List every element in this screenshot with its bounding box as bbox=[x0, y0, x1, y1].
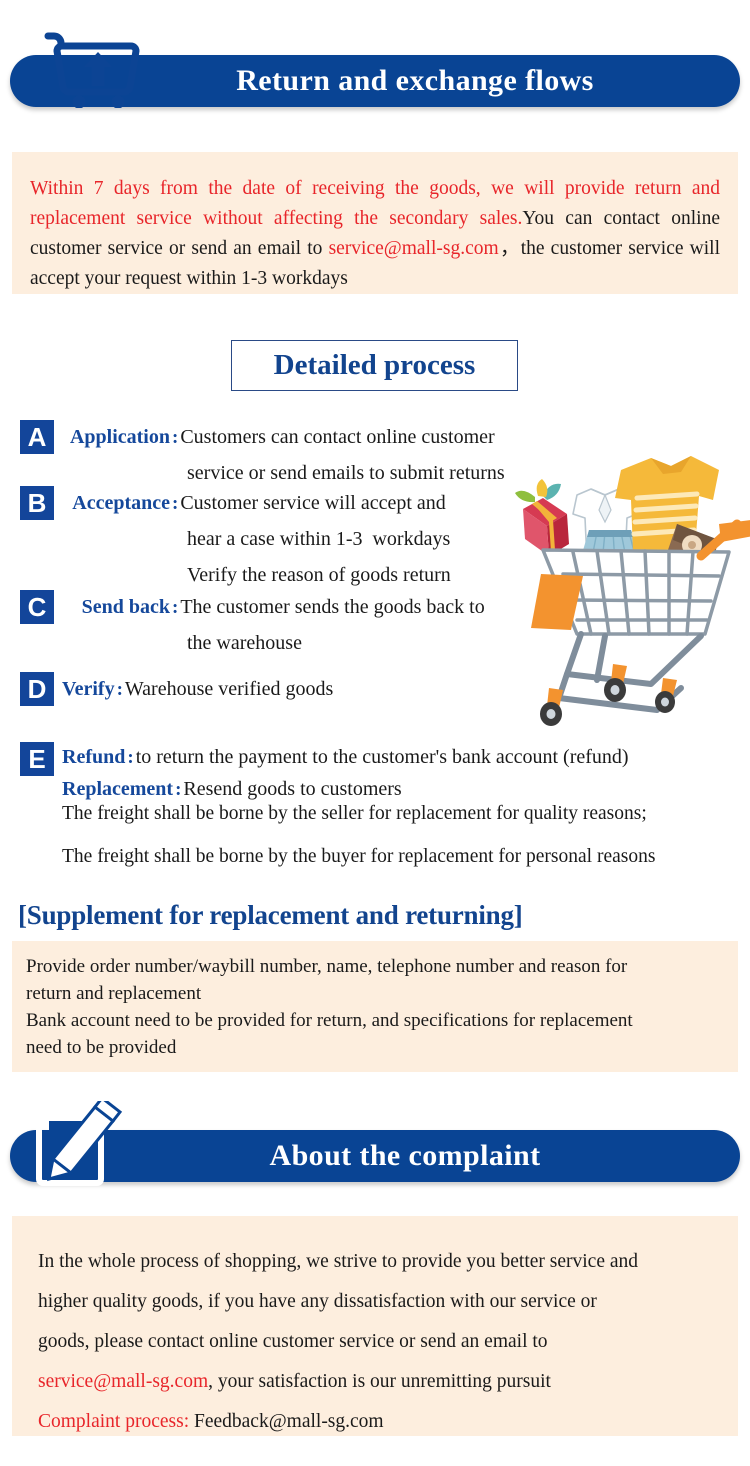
step-c-line-1: Send back:The customer sends the goods b… bbox=[62, 590, 750, 626]
process-step-a: A Application:Customers can contact onli… bbox=[0, 420, 750, 486]
step-d-text-1: Warehouse verified goods bbox=[125, 678, 333, 700]
step-b-text-1: Customer service will accept and bbox=[180, 492, 445, 514]
step-a-text-1: Customers can contact online customer bbox=[180, 426, 494, 448]
supplement-line-4: need to be provided bbox=[26, 1034, 724, 1061]
step-b-line-3: Verify the reason of goods return bbox=[62, 558, 750, 594]
complaint-line-4: service@mall-sg.com, your satisfaction i… bbox=[38, 1362, 712, 1402]
step-d-colon: : bbox=[115, 679, 125, 700]
step-a-line-1: Application:Customers can contact online… bbox=[62, 420, 750, 456]
policy-intro-box: Within 7 days from the date of receiving… bbox=[12, 152, 738, 294]
process-step-e: E Refund:to return the payment to the cu… bbox=[0, 742, 750, 792]
step-e-text-2: Resend goods to customers bbox=[183, 778, 401, 800]
complaint-feedback-email[interactable]: Feedback@mall-sg.com bbox=[194, 1411, 384, 1432]
step-c-label: Send back bbox=[62, 590, 170, 624]
step-a-colon: : bbox=[170, 427, 180, 448]
step-b-label: Acceptance bbox=[62, 486, 170, 520]
service-email-link[interactable]: service@mall-sg.com bbox=[329, 238, 499, 259]
step-b-line-1: Acceptance:Customer service will accept … bbox=[62, 486, 750, 522]
step-badge-e: E bbox=[20, 742, 54, 776]
supplement-heading: [Supplement for replacement and returnin… bbox=[18, 900, 523, 931]
complaint-text-box: In the whole process of shopping, we str… bbox=[12, 1216, 738, 1436]
notepad-pencil-icon bbox=[33, 1101, 125, 1189]
step-badge-b: B bbox=[20, 486, 54, 520]
complaint-service-email[interactable]: service@mall-sg.com bbox=[38, 1371, 208, 1392]
process-steps-list: A Application:Customers can contact onli… bbox=[0, 420, 750, 878]
step-c-text-1: The customer sends the goods back to bbox=[180, 596, 484, 618]
step-e-colon-2: : bbox=[173, 779, 183, 800]
supplement-box: Provide order number/waybill number, nam… bbox=[12, 941, 738, 1072]
step-e-label-replacement: Replacement bbox=[62, 778, 173, 800]
supplement-line-2: return and replacement bbox=[26, 980, 724, 1007]
step-c-line-2: the warehouse bbox=[62, 626, 750, 662]
step-d-label: Verify bbox=[62, 678, 115, 700]
complaint-line-4-rest: , your satisfaction is our unremitting p… bbox=[208, 1371, 551, 1392]
process-step-b: B Acceptance:Customer service will accep… bbox=[0, 486, 750, 590]
complaint-line-3: goods, please contact online customer se… bbox=[38, 1322, 712, 1362]
step-e-colon-1: : bbox=[125, 747, 135, 768]
step-e-text-1: to return the payment to the customer's … bbox=[136, 746, 629, 768]
supplement-line-3: Bank account need to be provided for ret… bbox=[26, 1007, 724, 1034]
step-badge-c: C bbox=[20, 590, 54, 624]
process-step-d: D Verify:Warehouse verified goods bbox=[0, 672, 750, 742]
complaint-process-label: Complaint process: bbox=[38, 1411, 189, 1432]
shopping-cart-up-arrow-icon bbox=[38, 26, 146, 108]
detailed-process-heading: Detailed process bbox=[231, 340, 518, 391]
complaint-line-5: Complaint process: Feedback@mall-sg.com bbox=[38, 1402, 712, 1442]
step-b-colon: : bbox=[170, 493, 180, 514]
complaint-line-1: In the whole process of shopping, we str… bbox=[38, 1242, 712, 1282]
step-e-line-2: Replacement:Resend goods to customers bbox=[62, 774, 750, 806]
step-badge-d: D bbox=[20, 672, 54, 706]
step-b-line-2: hear a case within 1-3 workdays bbox=[62, 522, 750, 558]
supplement-line-1: Provide order number/waybill number, nam… bbox=[26, 953, 724, 980]
step-d-line-1: Verify:Warehouse verified goods bbox=[62, 672, 750, 708]
complaint-line-2: higher quality goods, if you have any di… bbox=[38, 1282, 712, 1322]
step-badge-a: A bbox=[20, 420, 54, 454]
step-e-label-refund: Refund bbox=[62, 746, 125, 768]
freight-note-2: The freight shall be borne by the buyer … bbox=[62, 835, 750, 878]
process-step-c: C Send back:The customer sends the goods… bbox=[0, 590, 750, 672]
policy-intro-text: Within 7 days from the date of receiving… bbox=[30, 174, 720, 294]
step-e-line-1: Refund:to return the payment to the cust… bbox=[62, 742, 750, 774]
step-c-colon: : bbox=[170, 597, 180, 618]
step-a-label: Application bbox=[62, 420, 170, 454]
